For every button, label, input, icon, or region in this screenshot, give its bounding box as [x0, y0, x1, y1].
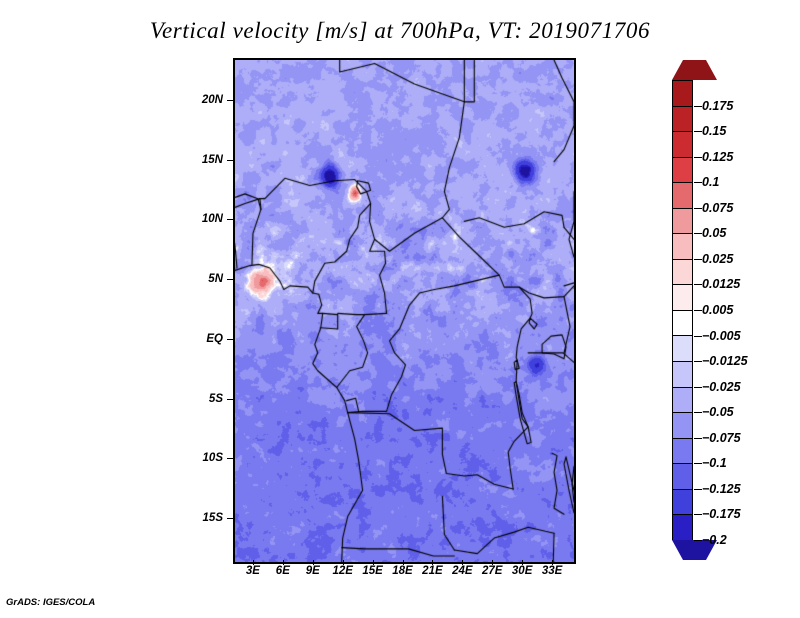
y-tick — [227, 399, 233, 400]
colorbar-segment — [673, 285, 692, 311]
colorbar-label: 0.1 — [702, 175, 719, 189]
colorbar-tick — [694, 310, 702, 311]
colorbar-tick — [694, 208, 702, 209]
y-axis-label: 5S — [185, 393, 223, 405]
colorbar-tick — [694, 259, 702, 260]
x-axis-label: 3E — [246, 565, 260, 577]
colorbar-segment — [673, 464, 692, 490]
colorbar-segment — [673, 260, 692, 286]
colorbar-tick — [694, 182, 702, 183]
colorbar-segment — [673, 515, 692, 541]
colorbar-label: 0.025 — [702, 252, 733, 266]
colorbar-tick — [694, 540, 702, 541]
colorbar-label: −0.05 — [702, 405, 734, 419]
y-axis-label: 5N — [185, 273, 223, 285]
y-axis-label: 10S — [185, 452, 223, 464]
colorbar-tick — [694, 233, 702, 234]
colorbar-label: 0.0125 — [702, 277, 740, 291]
y-axis-label: 15S — [185, 512, 223, 524]
colorbar-tick — [694, 514, 702, 515]
colorbar-tick — [694, 131, 702, 132]
x-axis-label: 24E — [452, 565, 472, 577]
colorbar-tick — [694, 284, 702, 285]
colorbar-segments — [672, 80, 693, 540]
colorbar-segment — [673, 107, 692, 133]
footer-credit: GrADS: IGES/COLA — [6, 597, 95, 608]
colorbar-tick — [694, 489, 702, 490]
x-axis-label: 21E — [422, 565, 442, 577]
colorbar-segment — [673, 439, 692, 465]
colorbar-segment — [673, 362, 692, 388]
y-tick — [227, 160, 233, 161]
colorbar-segment — [673, 209, 692, 235]
y-axis-label: 15N — [185, 154, 223, 166]
y-axis-label: EQ — [185, 333, 223, 345]
page-title: Vertical velocity [m/s] at 700hPa, VT: 2… — [0, 18, 800, 44]
y-tick — [227, 339, 233, 340]
colorbar-tick — [694, 387, 702, 388]
y-axis-label: 20N — [185, 94, 223, 106]
map-plot-area[interactable] — [233, 58, 576, 564]
y-tick — [227, 458, 233, 459]
colorbar-segment — [673, 132, 692, 158]
colorbar-segment — [673, 81, 692, 107]
colorbar-label: −0.125 — [702, 482, 741, 496]
colorbar-segment — [673, 183, 692, 209]
colorbar-label: 0.005 — [702, 303, 733, 317]
y-axis-label: 10N — [185, 213, 223, 225]
grads-plot-window: Vertical velocity [m/s] at 700hPa, VT: 2… — [0, 0, 800, 618]
x-axis-label: 6E — [276, 565, 290, 577]
x-axis-label: 12E — [332, 565, 352, 577]
x-axis-label: 33E — [542, 565, 562, 577]
colorbar-tick — [694, 336, 702, 337]
colorbar-segment — [673, 388, 692, 414]
colorbar-label: 0.075 — [702, 201, 733, 215]
vertical-velocity-heatmap — [235, 60, 574, 562]
y-tick — [227, 279, 233, 280]
colorbar-label: 0.125 — [702, 150, 733, 164]
colorbar-segment — [673, 311, 692, 337]
x-axis-label: 30E — [512, 565, 532, 577]
colorbar[interactable] — [672, 60, 696, 560]
y-tick — [227, 100, 233, 101]
colorbar-segment — [673, 336, 692, 362]
x-axis-label: 27E — [482, 565, 502, 577]
colorbar-tick — [694, 438, 702, 439]
colorbar-label: −0.2 — [702, 533, 727, 547]
colorbar-segment — [673, 234, 692, 260]
colorbar-segment — [673, 413, 692, 439]
colorbar-tick — [694, 361, 702, 362]
colorbar-tick — [694, 412, 702, 413]
y-tick — [227, 219, 233, 220]
y-tick — [227, 518, 233, 519]
colorbar-label: 0.175 — [702, 99, 733, 113]
colorbar-label: 0.15 — [702, 124, 726, 138]
colorbar-segment — [673, 490, 692, 516]
colorbar-tick — [694, 157, 702, 158]
colorbar-tick — [694, 463, 702, 464]
colorbar-label: −0.005 — [702, 329, 741, 343]
colorbar-top-arrow — [672, 60, 717, 80]
colorbar-label: −0.075 — [702, 431, 741, 445]
colorbar-label: 0.05 — [702, 226, 726, 240]
x-axis-label: 15E — [362, 565, 382, 577]
colorbar-label: −0.175 — [702, 507, 741, 521]
colorbar-tick — [694, 106, 702, 107]
colorbar-label: −0.025 — [702, 380, 741, 394]
colorbar-label: −0.0125 — [702, 354, 748, 368]
x-axis-label: 9E — [306, 565, 320, 577]
colorbar-segment — [673, 158, 692, 184]
x-axis-label: 18E — [392, 565, 412, 577]
colorbar-label: −0.1 — [702, 456, 727, 470]
